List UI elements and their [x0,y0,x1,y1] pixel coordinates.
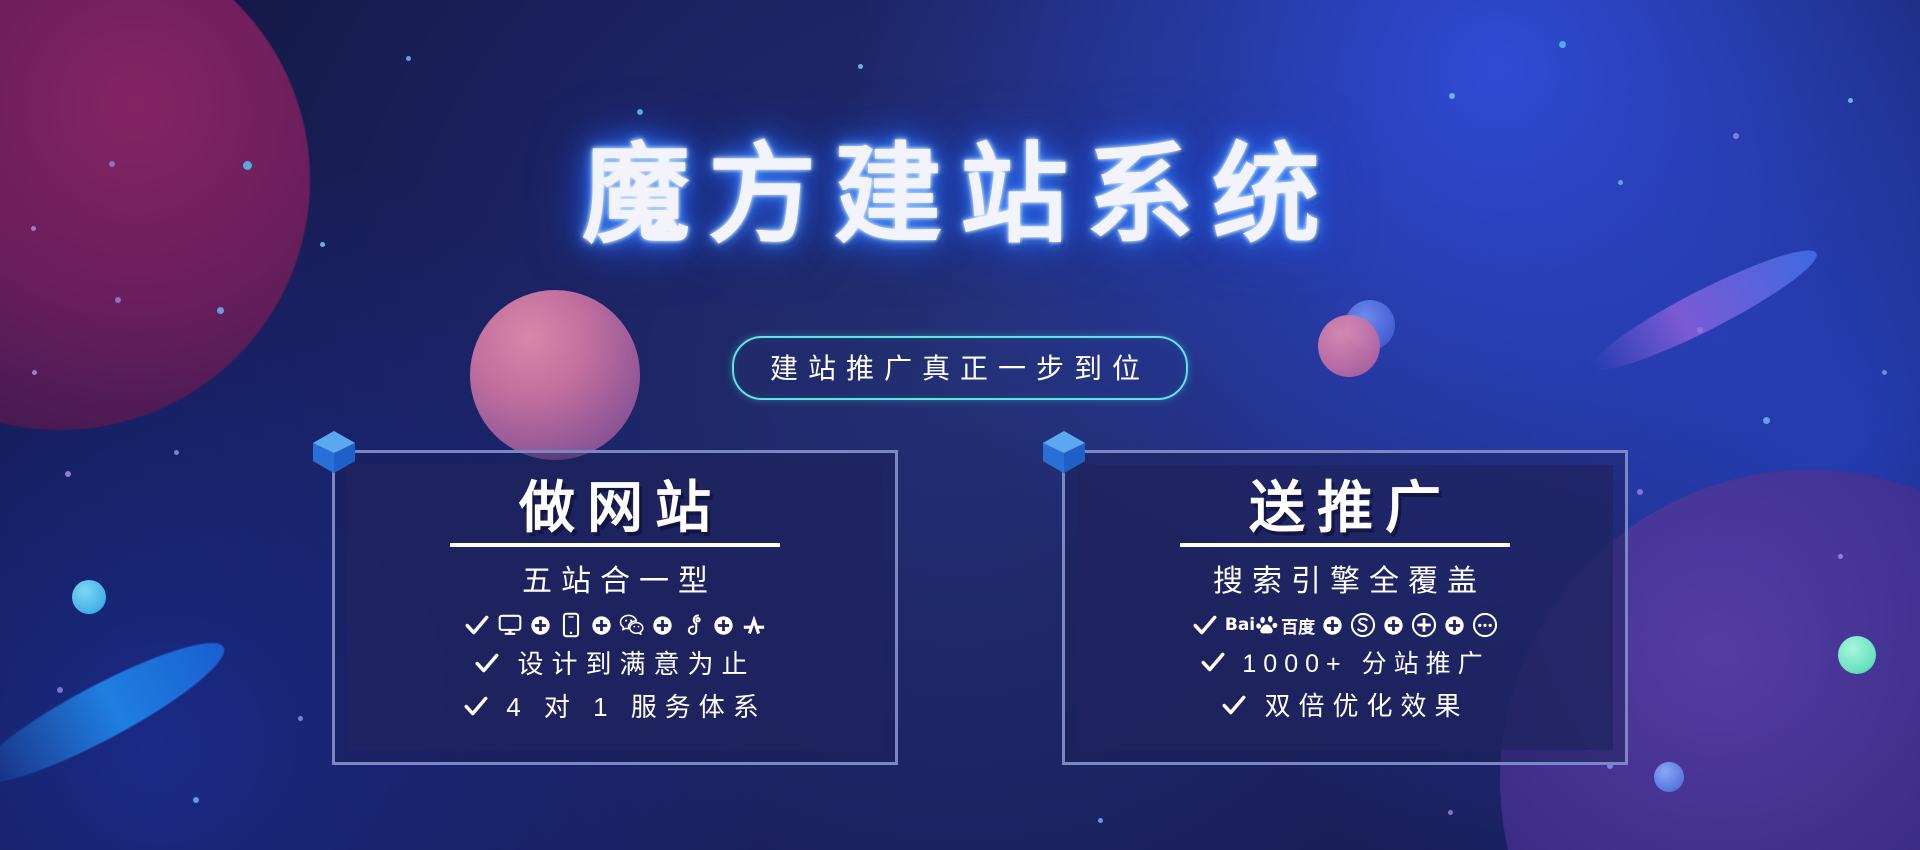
baidu-paw-icon [1256,614,1278,636]
more-ellipsis-icon [1472,612,1498,638]
heading-underline [450,543,780,547]
wechat-icon [619,612,645,638]
check-icon [1200,649,1226,675]
plus-icon [591,615,612,636]
star-dot [193,797,199,803]
feature-item: 4 对 1 服务体系 [463,687,767,724]
promo-banner: 魔方建站系统 建站推广真正一步到位 做网站 五站合一型 [0,0,1920,850]
card-heading: 送推广 [1237,479,1453,539]
card-heading: 做网站 [507,479,723,539]
mobile-phone-icon [558,612,584,638]
360-search-icon [1411,612,1437,638]
card-make-website-body: 做网站 五站合一型 [347,465,883,750]
pink-orb-shape [1318,315,1380,377]
card-make-website[interactable]: 做网站 五站合一型 [332,450,898,765]
heading-underline [1180,543,1510,547]
star-dot [1448,810,1453,815]
star-dot [858,64,863,69]
desktop-monitor-icon [497,612,523,638]
app-store-icon [741,612,767,638]
check-icon [1221,692,1247,718]
plus-icon [652,615,673,636]
feature-label: 4 对 1 服务体系 [498,687,767,724]
card-icon-row [464,612,767,638]
feature-item: 设计到满意为止 [474,644,755,681]
feature-cards: 做网站 五站合一型 [0,450,1920,790]
baidu-logo-en: Bai [1225,615,1255,635]
star-dot [1848,98,1853,103]
feature-item: 1000+ 分站推广 [1200,644,1489,680]
check-icon [463,693,489,719]
card-subheading: 五站合一型 [513,556,717,600]
baidu-logo-cn: 百度 [1281,613,1315,638]
card-free-promotion[interactable]: 送推广 搜索引擎全覆盖 Bai [1062,450,1628,765]
feature-item: 双倍优化效果 [1221,686,1468,723]
star-dot [1559,41,1566,48]
star-dot [32,370,37,375]
card-subheading: 搜索引擎全覆盖 [1204,556,1486,600]
star-dot [1098,818,1103,823]
plus-icon [1322,615,1343,636]
star-dot [1697,327,1703,333]
baidu-logo-icon: Bai 百度 [1225,613,1315,638]
star-dot [217,307,224,314]
check-icon [1192,612,1218,638]
plus-icon [1383,615,1404,636]
plus-icon [713,615,734,636]
star-dot [1449,93,1455,99]
feature-label: 双倍优化效果 [1256,686,1468,723]
sogou-icon [1350,612,1376,638]
star-dot [1763,417,1770,424]
check-icon [464,612,490,638]
star-dot [1882,370,1887,375]
plus-icon [530,615,551,636]
page-title: 魔方建站系统 [0,108,1920,264]
subtitle-pill: 建站推广真正一步到位 [732,336,1188,400]
feature-label: 1000+ 分站推广 [1235,644,1489,680]
star-dot [115,297,121,303]
subtitle-text: 建站推广真正一步到位 [770,347,1150,387]
card-free-promotion-body: 送推广 搜索引擎全覆盖 Bai [1077,465,1613,750]
plus-icon [1444,615,1465,636]
star-dot [406,56,411,61]
card-icon-row: Bai 百度 [1192,612,1498,638]
pink-planet-shape [470,290,640,460]
feature-label: 设计到满意为止 [509,644,755,681]
check-icon [474,650,500,676]
weibo-icon [680,612,706,638]
